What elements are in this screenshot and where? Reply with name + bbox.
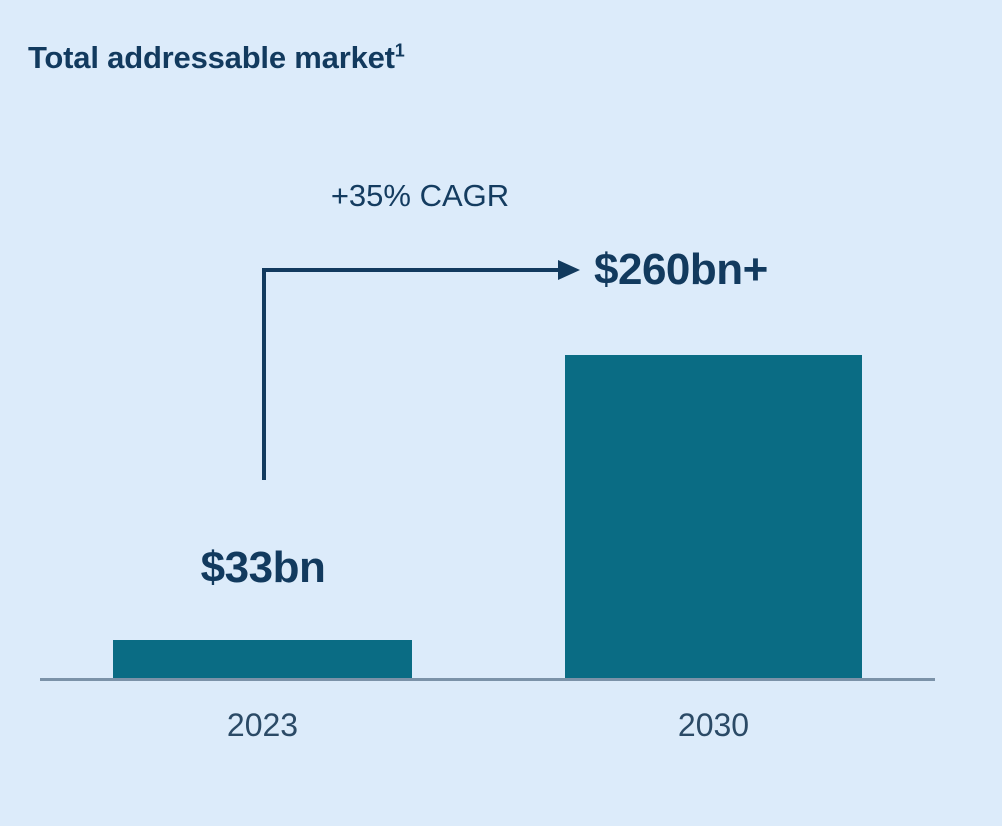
value-callout-2030: $260bn+ xyxy=(594,245,768,295)
x-axis-line xyxy=(40,678,935,681)
growth-arrow-icon xyxy=(250,250,590,500)
bar-2023 xyxy=(113,640,412,679)
value-callout-2023: $33bn xyxy=(113,543,413,593)
bar-2030 xyxy=(565,355,862,679)
x-tick-label-2030: 2030 xyxy=(565,707,862,744)
x-tick-label-2023: 2023 xyxy=(113,707,412,744)
cagr-annotation-label: +35% CAGR xyxy=(180,178,660,214)
chart-canvas: Total addressable market1 2023 2030 +35%… xyxy=(0,0,1002,826)
